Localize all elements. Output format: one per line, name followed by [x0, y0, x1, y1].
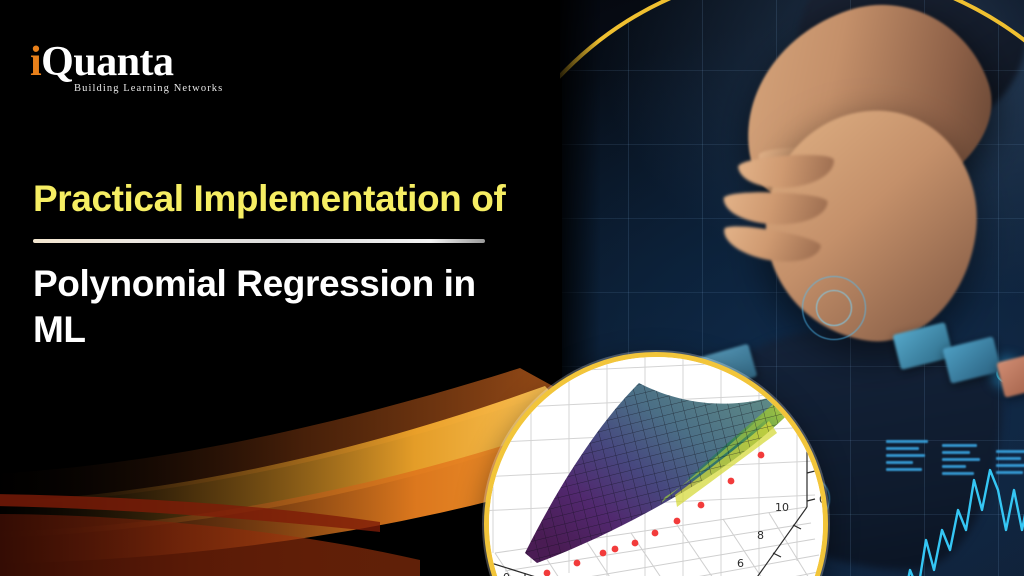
plot3d-svg	[489, 357, 823, 576]
trend-polyline-upper	[822, 470, 1024, 576]
x-tick-0: 0	[503, 571, 510, 576]
scatter-point	[652, 530, 659, 537]
y-tick-10: 10	[775, 501, 789, 514]
logo-letter-i: i	[30, 39, 41, 85]
headline-block: Practical Implementation of Polynomial R…	[33, 178, 513, 352]
scatter-point	[574, 560, 581, 567]
hud-bars-2	[942, 444, 982, 479]
scatter-point	[612, 546, 619, 553]
scatter-point	[632, 540, 639, 547]
title-line-2: Polynomial Regression in ML	[33, 261, 513, 351]
z-tick-0: 0	[819, 493, 826, 506]
logo-wordmark: iQuanta	[30, 41, 223, 83]
hud-ring-2	[816, 290, 852, 326]
logo-letters-quanta: Quanta	[41, 39, 173, 85]
logo-tagline: Building Learning Networks	[74, 84, 223, 95]
polynomial-regression-3d-plot: 0 10 8 6 4 0 20 40 60	[484, 352, 828, 576]
hud-bars-1	[886, 440, 928, 475]
brand-logo[interactable]: iQuanta Building Learning Networks	[30, 41, 223, 95]
scatter-point	[728, 478, 735, 485]
title-divider	[33, 239, 485, 243]
scatter-point	[600, 550, 607, 557]
y-tick-8: 8	[757, 529, 764, 542]
scatter-point	[698, 502, 705, 509]
title-line-1: Practical Implementation of	[33, 178, 513, 219]
scatter-point	[758, 452, 765, 459]
y-tick-6: 6	[737, 557, 744, 570]
scatter-point	[674, 518, 681, 525]
slide-canvas: iQuanta Building Learning Networks Pract…	[0, 0, 1024, 576]
hud-bars-3	[996, 450, 1024, 478]
